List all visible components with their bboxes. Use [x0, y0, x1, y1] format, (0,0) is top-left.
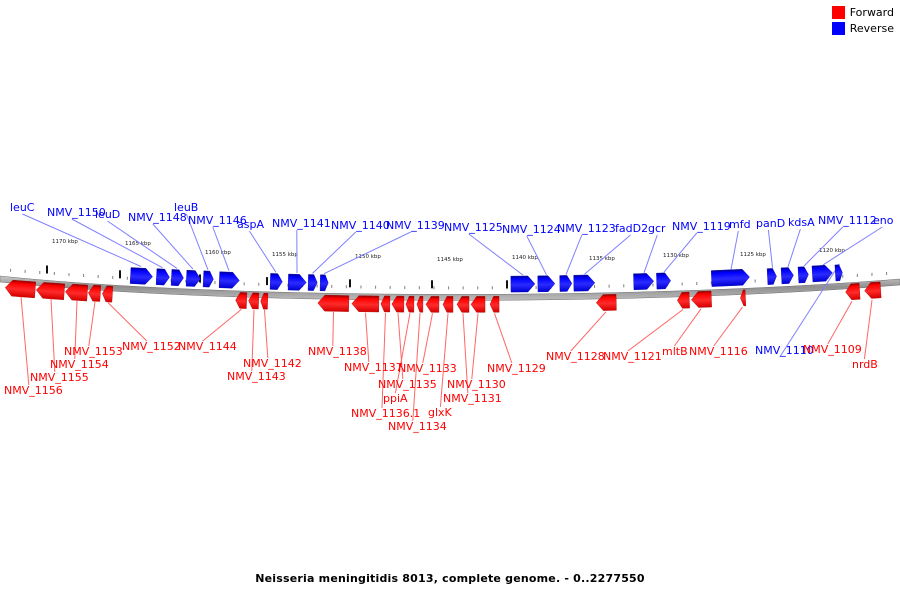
gene-arrow-shape	[219, 272, 240, 289]
gene-leader-line	[265, 310, 268, 358]
axis-minor-tick	[360, 286, 361, 289]
axis-minor-tick	[68, 273, 69, 276]
axis-minor-tick	[492, 286, 493, 289]
legend-reverse-label: Reverse	[850, 22, 894, 35]
reverse-gene-arrow[interactable]	[219, 272, 240, 289]
gene-label[interactable]: nrdB	[852, 358, 878, 371]
axis-major-tick	[349, 279, 351, 287]
gene-arrow-shape	[574, 275, 595, 291]
gene-arrow-shape	[270, 273, 283, 289]
gene-label[interactable]: NMV_1134	[388, 420, 447, 433]
gene-leader-line	[324, 232, 411, 274]
axis-major-tick	[119, 270, 121, 278]
gene-leader-line	[823, 227, 882, 265]
axis-minor-tick	[39, 271, 40, 274]
axis-minor-tick	[696, 282, 697, 285]
gene-label[interactable]: kdsA	[788, 216, 815, 229]
axis-minor-tick	[244, 282, 245, 285]
reverse-gene-arrow[interactable]	[308, 274, 317, 290]
reverse-gene-arrow[interactable]	[538, 276, 555, 292]
axis-minor-tick	[433, 286, 434, 289]
gene-leader-line	[566, 235, 582, 275]
gene-label[interactable]: NMV_1119	[672, 220, 731, 233]
gene-label[interactable]: NMV_1140	[331, 219, 390, 232]
gene-leader-line	[108, 303, 147, 341]
legend-forward-label: Forward	[850, 6, 894, 19]
axis-minor-tick	[886, 272, 887, 275]
gene-arrow-shape	[633, 273, 653, 290]
reverse-gene-arrow[interactable]	[835, 265, 843, 281]
axis-minor-tick	[98, 275, 99, 278]
axis-minor-tick	[842, 275, 843, 278]
gene-label[interactable]: NMV_1131	[443, 392, 502, 405]
axis-major-tick	[506, 280, 508, 288]
gene-leader-line	[495, 313, 512, 363]
gene-leader-line	[571, 312, 606, 351]
axis-minor-tick	[477, 286, 478, 289]
reverse-gene-arrow[interactable]	[203, 271, 214, 287]
reverse-gene-arrow[interactable]	[798, 266, 809, 283]
axis-minor-tick	[594, 285, 595, 288]
gene-label[interactable]: NMV_1153	[64, 345, 123, 358]
gene-arrow-shape	[781, 267, 794, 284]
legend-item-forward: Forward	[832, 6, 894, 19]
gene-label[interactable]: NMV_1138	[308, 345, 367, 358]
map-caption: Neisseria meningitidis 8013, complete ge…	[0, 572, 900, 585]
gene-leader-line	[313, 232, 356, 273]
gene-label[interactable]: NMV_1124	[502, 223, 561, 236]
gene-arrow-shape	[308, 274, 317, 290]
genome-map-canvas[interactable]: 1170 kbp1165 kbp1160 kbp1155 kbp1150 kbp…	[0, 0, 900, 600]
forward-gene-labels[interactable]: NMV_1156NMV_1155NMV_1154NMV_1153NMV_1152…	[4, 340, 878, 433]
gene-label[interactable]: NMV_1129	[487, 362, 546, 375]
gene-label[interactable]: NMV_1130	[447, 378, 506, 391]
ruler-tick-label: 1160 kbp	[205, 250, 231, 256]
gene-leader-line	[768, 230, 772, 268]
gene-arrow-shape	[320, 275, 328, 291]
reverse-gene-arrow[interactable]	[130, 268, 153, 285]
gene-label[interactable]: NMV_1154	[50, 358, 109, 371]
legend-forward-swatch	[832, 6, 845, 19]
gene-leader-line	[423, 313, 433, 363]
reverse-gene-arrow[interactable]	[270, 273, 283, 289]
gene-arrow-shape	[186, 270, 201, 287]
gene-label[interactable]: mltB	[662, 345, 688, 358]
ruler-tick-label: 1170 kbp	[52, 239, 78, 245]
reverse-gene-arrow[interactable]	[633, 273, 653, 290]
gene-arrow-shape	[203, 271, 214, 287]
axis-minor-tick	[375, 286, 376, 289]
gene-label[interactable]: leuD	[95, 208, 120, 221]
gene-leader-line	[804, 227, 843, 266]
axis-minor-tick	[448, 286, 449, 289]
reverse-gene-arrow[interactable]	[560, 275, 572, 291]
axis-minor-tick	[112, 276, 113, 279]
axis-minor-tick	[871, 273, 872, 276]
reverse-leader-lines	[22, 214, 882, 357]
gene-arrow-shape	[538, 276, 555, 292]
gene-leader-line	[644, 235, 657, 273]
axis-minor-tick	[10, 269, 11, 272]
gene-arrow-shape	[156, 269, 170, 286]
gene-label[interactable]: NMV_1156	[4, 384, 63, 397]
gene-label[interactable]: aspA	[237, 218, 264, 231]
axis-ruler-labels: 1170 kbp1165 kbp1160 kbp1155 kbp1150 kbp…	[52, 239, 845, 263]
axis-minor-tick	[404, 286, 405, 289]
gene-leader-line	[714, 307, 743, 346]
gene-arrow-shape	[656, 273, 671, 289]
reverse-gene-arrow[interactable]	[574, 275, 595, 291]
gene-leader-line	[828, 301, 852, 344]
gene-label[interactable]: fadD2	[615, 222, 648, 235]
gene-label[interactable]: leuC	[10, 201, 35, 214]
gene-label[interactable]: NMV_1152	[122, 340, 181, 353]
gene-arrow-shape	[798, 266, 809, 283]
gene-label[interactable]: gcr	[648, 222, 666, 235]
reverse-gene-arrow[interactable]	[767, 268, 777, 284]
axis-minor-tick	[536, 286, 537, 289]
reverse-gene-arrows[interactable]	[130, 265, 843, 293]
axis-minor-tick	[54, 272, 55, 275]
gene-label[interactable]: eno	[873, 214, 894, 227]
legend-item-reverse: Reverse	[832, 22, 894, 35]
axis-major-tick	[46, 266, 48, 274]
axis-minor-tick	[419, 286, 420, 289]
axis-minor-tick	[127, 277, 128, 280]
gene-leader-line	[89, 302, 95, 346]
ruler-tick-label: 1145 kbp	[437, 257, 463, 263]
gene-label[interactable]: panD	[756, 217, 785, 230]
axis-minor-tick	[317, 285, 318, 288]
gene-leader-line	[472, 313, 478, 379]
gene-label[interactable]: glxK	[428, 406, 453, 419]
gene-leader-line	[333, 312, 334, 346]
gene-label[interactable]: NMV_1139	[386, 219, 445, 232]
gene-label[interactable]: NMV_1137	[344, 361, 403, 374]
axis-minor-tick	[857, 274, 858, 277]
genome-map-viewer: 1170 kbp1165 kbp1160 kbp1155 kbp1150 kbp…	[0, 0, 900, 600]
gene-leader-line	[213, 227, 229, 271]
gene-arrow-shape	[711, 269, 750, 287]
gene-leader-line	[203, 309, 242, 341]
legend-reverse-swatch	[832, 22, 845, 35]
gene-label[interactable]: NMV_1109	[803, 343, 862, 356]
axis-minor-tick	[331, 285, 332, 288]
reverse-gene-arrow[interactable]	[511, 276, 535, 292]
gene-label[interactable]: NMV_1144	[178, 340, 237, 353]
gene-arrow-shape	[511, 276, 535, 292]
reverse-gene-arrow[interactable]	[156, 269, 170, 286]
gene-label[interactable]: NMV_1133	[398, 362, 457, 375]
reverse-gene-arrow[interactable]	[320, 275, 328, 291]
gene-label[interactable]: NMV_1141	[272, 217, 331, 230]
gene-label[interactable]: NMV_1143	[227, 370, 286, 383]
axis-minor-tick	[258, 283, 259, 286]
gene-arrow-shape	[288, 274, 306, 291]
gene-leader-line	[21, 297, 29, 385]
legend: Forward Reverse	[832, 6, 894, 35]
gene-label[interactable]: NMV_1136.1	[351, 407, 420, 420]
reverse-gene-arrow[interactable]	[171, 269, 184, 286]
axis-minor-tick	[623, 284, 624, 287]
gene-label[interactable]: NMV_1125	[444, 221, 503, 234]
ruler-tick-label: 1155 kbp	[272, 252, 298, 258]
axis-minor-tick	[652, 284, 653, 287]
axis-minor-tick	[214, 281, 215, 284]
gene-leader-line	[731, 231, 738, 270]
gene-label[interactable]: ppiA	[383, 392, 408, 405]
gene-label[interactable]: NMV_1128	[546, 350, 605, 363]
ruler-tick-label: 1140 kbp	[512, 255, 538, 261]
gene-label[interactable]: NMV_1123	[557, 222, 616, 235]
reverse-gene-arrow[interactable]	[711, 269, 750, 287]
gene-leader-line	[585, 235, 631, 274]
gene-arrow-shape	[835, 265, 843, 281]
gene-label[interactable]: NMV_1112	[818, 214, 877, 227]
gene-label[interactable]: NMV_1121	[603, 350, 662, 363]
axis-minor-tick	[390, 286, 391, 289]
gene-label[interactable]: NMV_1155	[30, 371, 89, 384]
gene-leader-line	[674, 309, 701, 346]
gene-leader-line	[153, 224, 193, 269]
axis-minor-tick	[682, 283, 683, 286]
reverse-gene-arrow[interactable]	[781, 267, 794, 284]
gene-arrow-shape	[130, 268, 153, 285]
axis-minor-tick	[83, 274, 84, 277]
gene-label[interactable]: NMV_1116	[689, 345, 748, 358]
gene-leader-line	[788, 229, 800, 267]
axis-minor-tick	[755, 280, 756, 283]
gene-label[interactable]: leuB	[174, 201, 198, 214]
axis-minor-tick	[25, 270, 26, 273]
reverse-gene-arrow[interactable]	[186, 270, 201, 287]
gene-leader-line	[864, 300, 872, 359]
reverse-gene-arrow[interactable]	[656, 273, 671, 289]
reverse-gene-arrow[interactable]	[288, 274, 306, 291]
gene-label[interactable]: NMV_1142	[243, 357, 302, 370]
gene-arrow-shape	[171, 269, 184, 286]
axis-minor-tick	[346, 285, 347, 288]
axis-major-tick	[431, 280, 433, 288]
gene-label[interactable]: mfd	[729, 218, 751, 231]
axis-major-tick	[266, 277, 268, 285]
gene-leader-line	[107, 221, 177, 268]
gene-leader-line	[22, 214, 141, 267]
axis-minor-tick	[609, 285, 610, 288]
ruler-tick-label: 1125 kbp	[740, 252, 766, 258]
gene-arrow-shape	[767, 268, 777, 284]
gene-arrow-shape	[560, 275, 572, 291]
gene-label[interactable]: NMV_1135	[378, 378, 437, 391]
axis-minor-tick	[463, 286, 464, 289]
